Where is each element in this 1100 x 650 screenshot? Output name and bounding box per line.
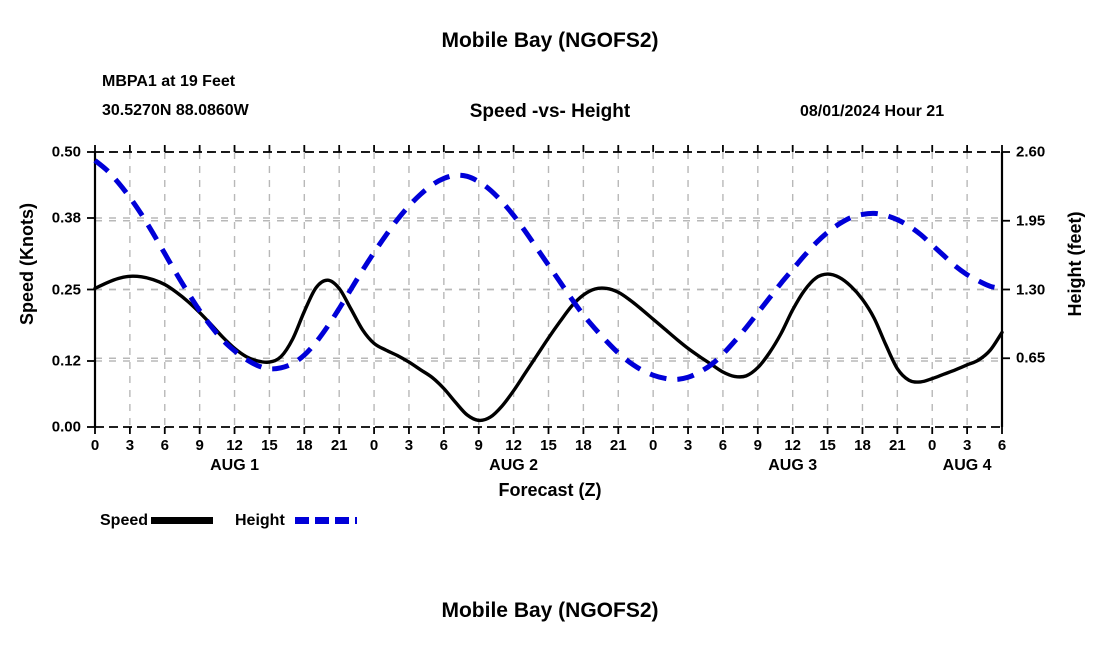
x-tick-label: 0 [91, 437, 99, 454]
y-tick-label-left: 0.50 [21, 144, 81, 161]
x-tick-label: 3 [126, 437, 134, 454]
chart-page: Mobile Bay (NGOFS2) MBPA1 at 19 Feet 30.… [0, 0, 1100, 650]
legend-label: Speed [100, 512, 148, 530]
x-axis-day-label: AUG 3 [768, 457, 817, 475]
x-tick-label: 18 [296, 437, 313, 454]
x-tick-label: 6 [998, 437, 1006, 454]
x-axis-day-label: AUG 2 [489, 457, 538, 475]
x-tick-label: 15 [261, 437, 278, 454]
x-tick-label: 21 [889, 437, 906, 454]
y-tick-label-right: 1.30 [1016, 281, 1076, 298]
y-tick-label-left: 0.00 [21, 419, 81, 436]
y-tick-label-right: 0.65 [1016, 350, 1076, 367]
legend-swatch-height [295, 517, 357, 524]
y-tick-label-right: 1.95 [1016, 212, 1076, 229]
x-tick-label: 15 [540, 437, 557, 454]
x-tick-label: 6 [440, 437, 448, 454]
x-tick-label: 18 [575, 437, 592, 454]
x-tick-label: 6 [719, 437, 727, 454]
x-tick-label: 12 [784, 437, 801, 454]
x-axis-day-label: AUG 1 [210, 457, 259, 475]
y-tick-label-left: 0.25 [21, 281, 81, 298]
y-tick-label-left: 0.38 [21, 210, 81, 227]
x-tick-label: 3 [405, 437, 413, 454]
chart-plot [0, 0, 1100, 650]
x-tick-label: 0 [928, 437, 936, 454]
legend-swatch-speed [151, 517, 213, 524]
x-tick-label: 6 [161, 437, 169, 454]
x-axis-day-label: AUG 4 [943, 457, 992, 475]
x-tick-label: 3 [963, 437, 971, 454]
x-tick-label: 9 [754, 437, 762, 454]
x-tick-label: 12 [226, 437, 243, 454]
legend-label: Height [235, 512, 285, 530]
page-title-bottom: Mobile Bay (NGOFS2) [0, 600, 1100, 621]
x-tick-label: 18 [854, 437, 871, 454]
x-tick-label: 9 [475, 437, 483, 454]
y-tick-label-left: 0.12 [21, 353, 81, 370]
x-tick-label: 3 [684, 437, 692, 454]
x-tick-label: 0 [370, 437, 378, 454]
x-tick-label: 9 [195, 437, 203, 454]
x-tick-label: 21 [610, 437, 627, 454]
x-tick-label: 12 [505, 437, 522, 454]
x-tick-label: 15 [819, 437, 836, 454]
y-tick-label-right: 2.60 [1016, 144, 1076, 161]
x-tick-label: 0 [649, 437, 657, 454]
x-tick-label: 21 [331, 437, 348, 454]
